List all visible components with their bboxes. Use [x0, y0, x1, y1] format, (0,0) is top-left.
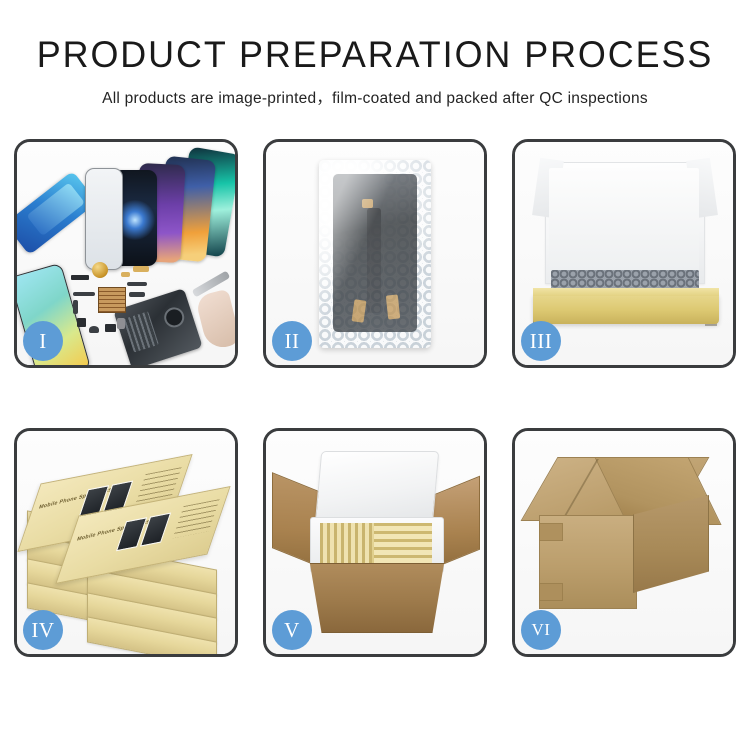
process-step-grid: I II III [14, 139, 736, 657]
carton-tape-patch [539, 583, 563, 601]
kraft-box-base [533, 294, 719, 324]
page-title: PRODUCT PREPARATION PROCESS [11, 34, 739, 76]
process-step-panel-3[interactable]: III [512, 139, 736, 368]
gold-coil-part-icon [92, 262, 108, 278]
gold-contact-icon [133, 266, 149, 272]
white-foam-sheet [549, 168, 699, 272]
step-badge-5: V [272, 610, 312, 650]
process-step-panel-5[interactable]: V [263, 428, 487, 657]
metal-bracket-icon [117, 318, 125, 329]
speaker-part-icon [89, 326, 99, 333]
flex-cable-icon [367, 208, 381, 312]
phone-back-housing [113, 288, 203, 368]
step-badge-1: I [23, 321, 63, 361]
gold-contact-icon [362, 199, 373, 208]
step-badge-2: II [272, 321, 312, 361]
process-step-panel-2[interactable]: II [263, 139, 487, 368]
phone-screen-glass [85, 168, 123, 270]
wrapped-screen-assembly [333, 174, 417, 332]
copper-grid-part-icon [98, 287, 126, 313]
page-header: PRODUCT PREPARATION PROCESS All products… [0, 0, 750, 108]
chip-part-icon [105, 324, 116, 332]
chip-part-icon [71, 275, 89, 280]
flex-cable-icon [127, 282, 147, 286]
packed-kraft-boxes [320, 523, 432, 565]
spec-text-lines [173, 499, 220, 538]
process-step-panel-6[interactable]: VI [512, 428, 736, 657]
gold-contact-icon [385, 294, 399, 319]
process-step-panel-4[interactable]: Mobile Phone Spare Parts Mobile Phone Sp… [14, 428, 238, 657]
flex-cable-icon [73, 300, 78, 314]
step-badge-6: VI [521, 610, 561, 650]
product-window-icon [116, 517, 147, 551]
step-badge-4: IV [23, 610, 63, 650]
gold-contact-icon [352, 299, 367, 322]
process-step-panel-1[interactable]: I [14, 139, 238, 368]
bubble-wrap-package [319, 160, 431, 348]
chip-part-icon [77, 318, 86, 327]
gold-contact-icon [121, 272, 130, 277]
carton-tape-patch [539, 523, 563, 541]
flex-cable-icon [73, 292, 95, 296]
outer-carton-body [304, 563, 450, 633]
page-subtitle: All products are image-printed，film-coat… [0, 86, 750, 108]
step-badge-3: III [521, 321, 561, 361]
flex-cable-icon [129, 292, 145, 297]
foam-cooler-lid [315, 451, 439, 525]
